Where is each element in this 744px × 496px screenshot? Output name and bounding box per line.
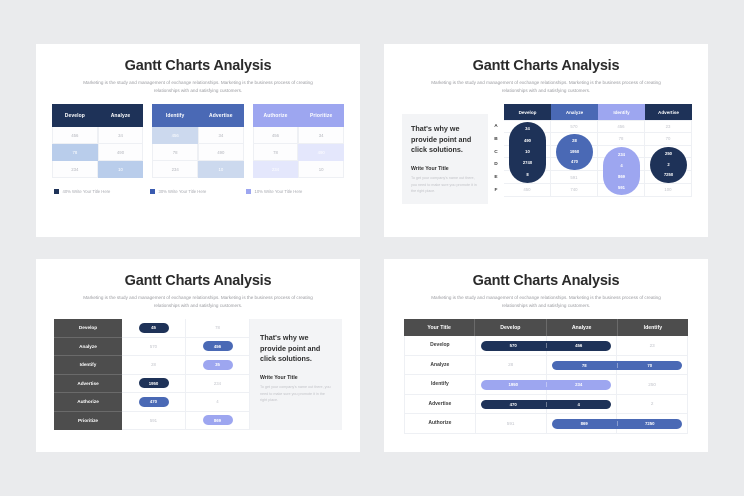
table-body: Develop57045623570456Analyze2878707870Id…: [404, 336, 688, 434]
legend-swatch: [54, 189, 59, 194]
row-label: Analyze: [54, 338, 122, 357]
page-subtitle: Marketing is the study and management of…: [82, 294, 314, 310]
table-cell: 591: [122, 412, 186, 431]
table-body: 456347849023410: [253, 127, 344, 178]
row-label: Authorize: [54, 393, 122, 412]
slide-panel-4: Gantt Charts Analysis Marketing is the s…: [384, 259, 708, 452]
table-row: 23410: [152, 161, 243, 178]
table-cell: 570: [551, 120, 598, 133]
table-cell: 23: [645, 120, 692, 133]
note-body: To get your company's name out there, yo…: [260, 384, 332, 403]
column-header: Analyze: [551, 104, 598, 120]
gantt-pill: 35: [203, 360, 233, 370]
column-header: Identify: [598, 104, 645, 120]
table-cell: 7250: [645, 171, 692, 184]
table-cell: 250: [645, 146, 692, 159]
table-row: Authorize59186972508697250: [404, 414, 688, 434]
table-cell: 456: [152, 127, 198, 144]
table-cell: 10: [98, 161, 144, 178]
table-row: 4704: [122, 393, 250, 412]
table-cell: 591: [476, 414, 547, 434]
gantt-bar-value: 869: [552, 421, 617, 426]
table-group: IdentifyAdvertise456347849023410: [152, 104, 243, 178]
legend-swatch: [246, 189, 251, 194]
slide-panel-2: Gantt Charts Analysis Marketing is the s…: [384, 44, 708, 237]
table-header-row: AuthorizePrioritize: [253, 104, 344, 127]
gantt-bar-value: 4: [546, 402, 612, 407]
table-cell: 869: [598, 171, 645, 184]
table-cell: 250: [617, 375, 688, 395]
row-label: E: [488, 171, 504, 184]
table-row: Analyze2878707870: [404, 356, 688, 376]
gantt-bar-value: 1950: [481, 382, 546, 387]
table-cell: 2: [645, 158, 692, 171]
row-label: C: [488, 146, 504, 159]
table-cell: 28: [122, 356, 186, 375]
table-header-row: Your TitleDevelopAnalyzeIdentify: [404, 319, 688, 336]
table-cell: 70: [645, 133, 692, 146]
table-header-row: IdentifyAdvertise: [152, 104, 243, 127]
table-row: F450740591100: [504, 184, 692, 197]
legend-label: 30% Write Your Title Here: [159, 189, 207, 194]
legend-item: 30% Write Your Title Here: [150, 189, 246, 194]
slide-grid: Gantt Charts Analysis Marketing is the s…: [0, 0, 744, 496]
table-cell: 570: [122, 338, 186, 357]
table-row: B490287870: [504, 133, 692, 146]
table-cell: 456: [598, 120, 645, 133]
page-title: Gantt Charts Analysis: [52, 273, 344, 289]
gantt-table: 4578570456283519502344704591869: [122, 319, 250, 430]
table-cell: 8: [504, 171, 551, 184]
table-cell: 2: [617, 395, 688, 415]
gantt-bar-value: 70: [617, 363, 683, 368]
column-header: Develop: [475, 319, 546, 336]
table-row: 1950234: [122, 375, 250, 394]
table-group: DevelopAnalyze456347849023410: [52, 104, 143, 178]
row-label: D: [488, 158, 504, 171]
gantt-table: Your TitleDevelopAnalyzeIdentify Develop…: [400, 319, 692, 434]
table-cell: 10: [198, 161, 244, 178]
table-cell: 490: [504, 133, 551, 146]
table-row: D274047042: [504, 158, 692, 171]
column-header: Analyze: [547, 319, 618, 336]
table-cell: 456: [253, 127, 299, 144]
table-cell: 34: [504, 120, 551, 133]
legend: 40% Write Your Title Here30% Write Your …: [52, 189, 344, 194]
row-label: Analyze: [404, 356, 476, 376]
gantt-bar: 1950234: [481, 380, 611, 390]
table-row: A3457045623: [504, 120, 692, 133]
gantt-bar-value: 570: [481, 343, 546, 348]
table-cell: 10: [504, 146, 551, 159]
gantt-pill: 456: [203, 341, 233, 351]
page-subtitle: Marketing is the study and management of…: [82, 79, 314, 95]
column-header: Your Title: [404, 319, 475, 336]
column-header: Advertise: [645, 104, 692, 120]
table-row: 2835: [122, 356, 250, 375]
column-header: Authorize: [253, 104, 299, 127]
gantt-bar: 7870: [552, 361, 682, 371]
table-cell: 78: [253, 144, 299, 161]
legend-label: 10% Write Your Title Here: [255, 189, 303, 194]
table-cell: 234: [52, 161, 98, 178]
panel-body: That's why we provide point and click so…: [400, 104, 692, 204]
legend-label: 40% Write Your Title Here: [63, 189, 111, 194]
table-row: Advertise470424704: [404, 395, 688, 415]
page-subtitle: Marketing is the study and management of…: [430, 79, 662, 95]
table-header-row: DevelopAnalyzeIdentifyAdvertise: [504, 104, 692, 120]
table-cell: 10: [298, 161, 344, 178]
table-row: 23410: [52, 161, 143, 178]
table-cell: 78: [186, 319, 250, 338]
table-cell: 869: [186, 412, 250, 431]
row-label: Authorize: [404, 414, 476, 434]
table-cell: 234: [253, 161, 299, 178]
table-cell: 78: [152, 144, 198, 161]
page-title: Gantt Charts Analysis: [52, 58, 344, 74]
table-cell: 591: [598, 184, 645, 197]
table-row: 591869: [122, 412, 250, 431]
table-group: AuthorizePrioritize456347849023410: [253, 104, 344, 178]
column-header: Develop: [504, 104, 551, 120]
table-cell: 78: [598, 133, 645, 146]
row-label: Identify: [54, 356, 122, 375]
row-label: Advertise: [404, 395, 476, 415]
table-row: E85918697250: [504, 171, 692, 184]
page-subtitle: Marketing is the study and management of…: [430, 294, 662, 310]
table-cell: 100: [645, 184, 692, 197]
table-row: 78490: [152, 144, 243, 161]
column-header: Identify: [618, 319, 688, 336]
table-cell: 34: [198, 127, 244, 144]
table-cell: 4: [598, 158, 645, 171]
gantt-bar-value: 78: [552, 363, 617, 368]
table-cell: 450: [504, 184, 551, 197]
row-label: Develop: [54, 319, 122, 338]
note-card: That's why we provide point and click so…: [250, 319, 342, 430]
page-title: Gantt Charts Analysis: [400, 58, 692, 74]
table-cell: 234: [598, 146, 645, 159]
row-label-column: DevelopAnalyzeIdentifyAdvertiseAuthorize…: [54, 319, 122, 430]
row-label: A: [488, 120, 504, 133]
table-cell: 234: [152, 161, 198, 178]
column-header: Advertise: [198, 104, 244, 127]
row-label: Develop: [404, 336, 476, 356]
slide-panel-1: Gantt Charts Analysis Marketing is the s…: [36, 44, 360, 237]
page-title: Gantt Charts Analysis: [400, 273, 692, 289]
slide-panel-3: Gantt Charts Analysis Marketing is the s…: [36, 259, 360, 452]
table-cell: 591: [551, 171, 598, 184]
table-header-row: DevelopAnalyze: [52, 104, 143, 127]
table-cell: 456: [52, 127, 98, 144]
table-row: Identify19502342501950234: [404, 375, 688, 395]
gantt-bar-value: 456: [546, 343, 612, 348]
table-cell: 490: [198, 144, 244, 161]
table-body: 456347849023410: [152, 127, 243, 178]
column-header: Prioritize: [298, 104, 344, 127]
table-cell: 470: [551, 158, 598, 171]
table-row: 4578: [122, 319, 250, 338]
table-cell: 28: [476, 356, 547, 376]
table-row: 78490: [253, 144, 344, 161]
gantt-table: DevelopAnalyzeIdentifyAdvertise A3457045…: [488, 104, 692, 197]
gantt-pill: 45: [139, 323, 169, 333]
table-cell: 28: [551, 133, 598, 146]
table-row: C101950234250: [504, 146, 692, 159]
gantt-pill: 869: [203, 415, 233, 425]
gantt-bar: 4704: [481, 400, 611, 410]
table-cell: 1950: [551, 146, 598, 159]
table-cell: 35: [186, 356, 250, 375]
column-header: Identify: [152, 104, 198, 127]
table-cell: 78: [52, 144, 98, 161]
table-cell: 234: [186, 375, 250, 394]
table-cell: 2740: [504, 158, 551, 171]
table-row: 45634: [52, 127, 143, 144]
gantt-pill: 470: [139, 397, 169, 407]
table-cell: 490: [298, 144, 344, 161]
table-body: 456347849023410: [52, 127, 143, 178]
table-cell: 740: [551, 184, 598, 197]
note-body: To get your company's name out there, yo…: [411, 175, 479, 194]
table-cell: 34: [298, 127, 344, 144]
note-card: That's why we provide point and click so…: [402, 114, 488, 204]
table-row: 23410: [253, 161, 344, 178]
table-row: 45634: [253, 127, 344, 144]
column-header: Develop: [52, 104, 98, 127]
row-label: F: [488, 184, 504, 197]
table-cell: 490: [98, 144, 144, 161]
gantt-pill: 1950: [139, 378, 169, 388]
table-cell: 470: [122, 393, 186, 412]
table-cell: 23: [617, 336, 688, 356]
table-cell: 45: [122, 319, 186, 338]
table-row: 78490: [52, 144, 143, 161]
table-cell: 456: [186, 338, 250, 357]
column-header: Analyze: [98, 104, 144, 127]
table-cell: 34: [98, 127, 144, 144]
legend-item: 40% Write Your Title Here: [54, 189, 150, 194]
gantt-bar-value: 470: [481, 402, 546, 407]
table-cell: 1950: [122, 375, 186, 394]
note-subheading: Write Your Title: [260, 375, 332, 381]
legend-item: 10% Write Your Title Here: [246, 189, 342, 194]
table-row: Develop57045623570456: [404, 336, 688, 356]
table-row: 570456: [122, 338, 250, 357]
table-body: A3457045623B490287870C101950234250D27404…: [504, 120, 692, 197]
table-row: 45634: [152, 127, 243, 144]
note-heading: That's why we provide point and click so…: [260, 333, 332, 364]
gantt-bar: 8697250: [552, 419, 682, 429]
gantt-bar: 570456: [481, 341, 611, 351]
row-label: B: [488, 133, 504, 146]
gantt-bar-value: 7250: [617, 421, 683, 426]
row-label: Prioritize: [54, 412, 122, 431]
note-heading: That's why we provide point and click so…: [411, 124, 479, 155]
table-cell: 4: [186, 393, 250, 412]
note-subheading: Write Your Title: [411, 166, 479, 172]
gantt-bar-value: 234: [546, 382, 612, 387]
grouped-tables: DevelopAnalyze456347849023410IdentifyAdv…: [52, 104, 344, 178]
row-label: Advertise: [54, 375, 122, 394]
legend-swatch: [150, 189, 155, 194]
row-label: Identify: [404, 375, 476, 395]
panel-body: DevelopAnalyzeIdentifyAdvertiseAuthorize…: [52, 319, 344, 430]
